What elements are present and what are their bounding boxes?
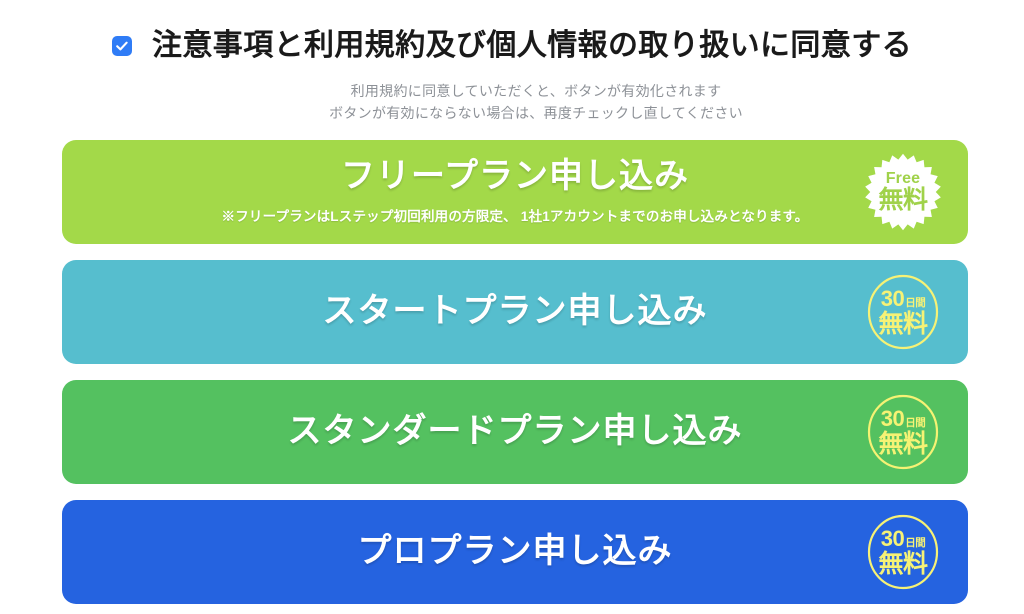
plan-label-standard: スタンダードプラン申し込み [288,412,743,451]
days-badge-top: 30日間 [881,528,925,550]
plan-label-free: フリープラン申し込み [341,157,689,196]
consent-checkbox[interactable] [112,36,132,56]
circle-outline-shape [864,393,942,471]
free-badge-top-text: Free [886,171,921,187]
consent-title: 注意事項と利用規約及び個人情報の取り扱いに同意する [152,28,912,64]
plan-label-start: スタートプラン申し込み [323,292,708,331]
days-badge-unit: 日間 [905,298,925,309]
days-badge-bottom: 無料 [878,552,927,577]
days-badge-number: 30 [881,408,904,430]
days-badge-number: 30 [881,528,904,550]
days-badge-number: 30 [881,288,904,310]
days-badge-bottom: 無料 [878,312,927,337]
plan-label-pro: プロプラン申し込み [358,532,673,571]
free-starburst-badge: Free 無料 [864,153,942,231]
circle-outline-shape [864,513,942,591]
circle-outline-shape [864,273,942,351]
free-badge-bottom-text: 無料 [878,188,927,213]
consent-row: 注意事項と利用規約及び個人情報の取り扱いに同意する [0,28,1024,64]
consent-subtext: 利用規約に同意していただくと、ボタンが有効化されます ボタンが有効にならない場合… [0,80,1024,124]
30-days-free-badge-start: 30日間 無料 [864,273,942,351]
plan-signup-page: 注意事項と利用規約及び個人情報の取り扱いに同意する 利用規約に同意していただくと… [0,0,1024,614]
plan-note-free: ※フリープランはLステップ初回利用の方限定、 1社1アカウントまでのお申し込みと… [222,205,809,225]
30-days-free-badge-standard: 30日間 無料 [864,393,942,471]
days-badge-unit: 日間 [905,418,925,429]
starburst-shape [864,153,942,231]
days-badge-top: 30日間 [881,288,925,310]
plan-button-pro[interactable]: プロプラン申し込み 30日間 無料 [62,500,968,604]
plan-button-start[interactable]: スタートプラン申し込み 30日間 無料 [62,260,968,364]
consent-subtext-line-1: 利用規約に同意していただくと、ボタンが有効化されます [48,80,1024,102]
30-days-free-badge-pro: 30日間 無料 [864,513,942,591]
plan-button-standard[interactable]: スタンダードプラン申し込み 30日間 無料 [62,380,968,484]
plan-button-list: フリープラン申し込み ※フリープランはLステップ初回利用の方限定、 1社1アカウ… [62,140,968,604]
plan-button-free[interactable]: フリープラン申し込み ※フリープランはLステップ初回利用の方限定、 1社1アカウ… [62,140,968,244]
check-icon [115,39,129,53]
days-badge-top: 30日間 [881,408,925,430]
consent-subtext-line-2: ボタンが有効にならない場合は、再度チェックし直してください [48,102,1024,124]
days-badge-bottom: 無料 [878,432,927,457]
days-badge-unit: 日間 [905,538,925,549]
